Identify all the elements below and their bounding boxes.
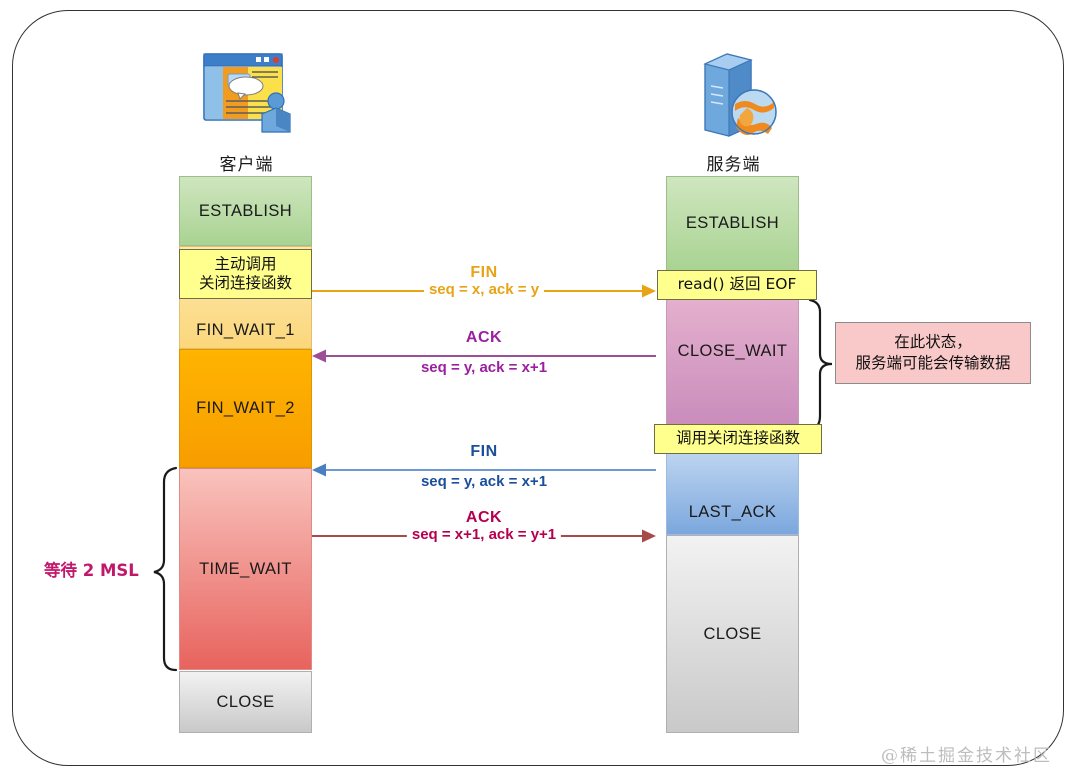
state-label: TIME_WAIT (199, 560, 292, 579)
state-label: CLOSE (704, 625, 762, 644)
state-label: LAST_ACK (689, 503, 777, 522)
server-label: 服务端 (667, 150, 800, 175)
message-detail: seq = x, ack = y (424, 281, 544, 298)
watermark: @稀土掘金技术社区 (881, 741, 1052, 766)
callout-line-1: 主动调用 (214, 255, 276, 274)
server-state-establish: ESTABLISH (666, 176, 799, 271)
callout-line-1: read() 返回 EOF (678, 275, 797, 294)
client-label: 客户端 (180, 150, 313, 175)
message-flag: FIN (312, 264, 656, 282)
message-ack-1: ACK seq = y, ack = x+1 (312, 355, 656, 367)
note-server-may-send-data: 在此状态， 服务端可能会传输数据 (835, 322, 1031, 384)
globe-icon (732, 90, 776, 135)
time-wait-brace (152, 466, 180, 677)
state-label: CLOSE_WAIT (678, 342, 788, 361)
message-ack-2: ACK seq = x+1, ack = y+1 (312, 535, 656, 547)
server-icon (667, 46, 800, 146)
client-state-establish: ESTABLISH (179, 176, 312, 246)
client-state-time-wait: TIME_WAIT (179, 468, 312, 670)
note-line-2: 服务端可能会传输数据 (855, 353, 1010, 374)
client-state-fin-wait-2: FIN_WAIT_2 (179, 349, 312, 468)
server-close-wait-brace (806, 298, 836, 435)
message-detail: seq = y, ack = x+1 (416, 473, 552, 490)
callout-line-2: 关闭连接函数 (199, 274, 292, 293)
callout-server-close-call: 调用关闭连接函数 (654, 424, 822, 454)
state-label: ESTABLISH (199, 202, 292, 221)
callout-line-1: 调用关闭连接函数 (676, 429, 800, 448)
state-label: CLOSE (217, 693, 275, 712)
message-detail: seq = x+1, ack = y+1 (407, 526, 561, 543)
message-flag: FIN (312, 443, 656, 461)
diagram-root: 客户端 (0, 0, 1080, 780)
note-line-1: 在此状态， (894, 332, 972, 353)
message-detail: seq = y, ack = x+1 (416, 359, 552, 376)
client-endpoint: 客户端 (180, 46, 313, 175)
message-fin-2: FIN seq = y, ack = x+1 (312, 469, 656, 481)
server-state-close: CLOSE (666, 535, 799, 733)
msl-wait-label: 等待 2 MSL (44, 557, 139, 581)
state-label: FIN_WAIT_1 (196, 321, 295, 340)
message-fin-1: FIN seq = x, ack = y (312, 290, 656, 302)
callout-server-read-eof: read() 返回 EOF (657, 270, 817, 300)
message-flag: ACK (312, 329, 656, 347)
client-icon (180, 46, 313, 146)
client-state-close: CLOSE (179, 671, 312, 733)
state-label: FIN_WAIT_2 (196, 399, 295, 418)
message-flag: ACK (312, 509, 656, 527)
callout-client-close-call: 主动调用 关闭连接函数 (179, 249, 312, 299)
server-endpoint: 服务端 (667, 46, 800, 175)
state-label: ESTABLISH (686, 214, 779, 233)
